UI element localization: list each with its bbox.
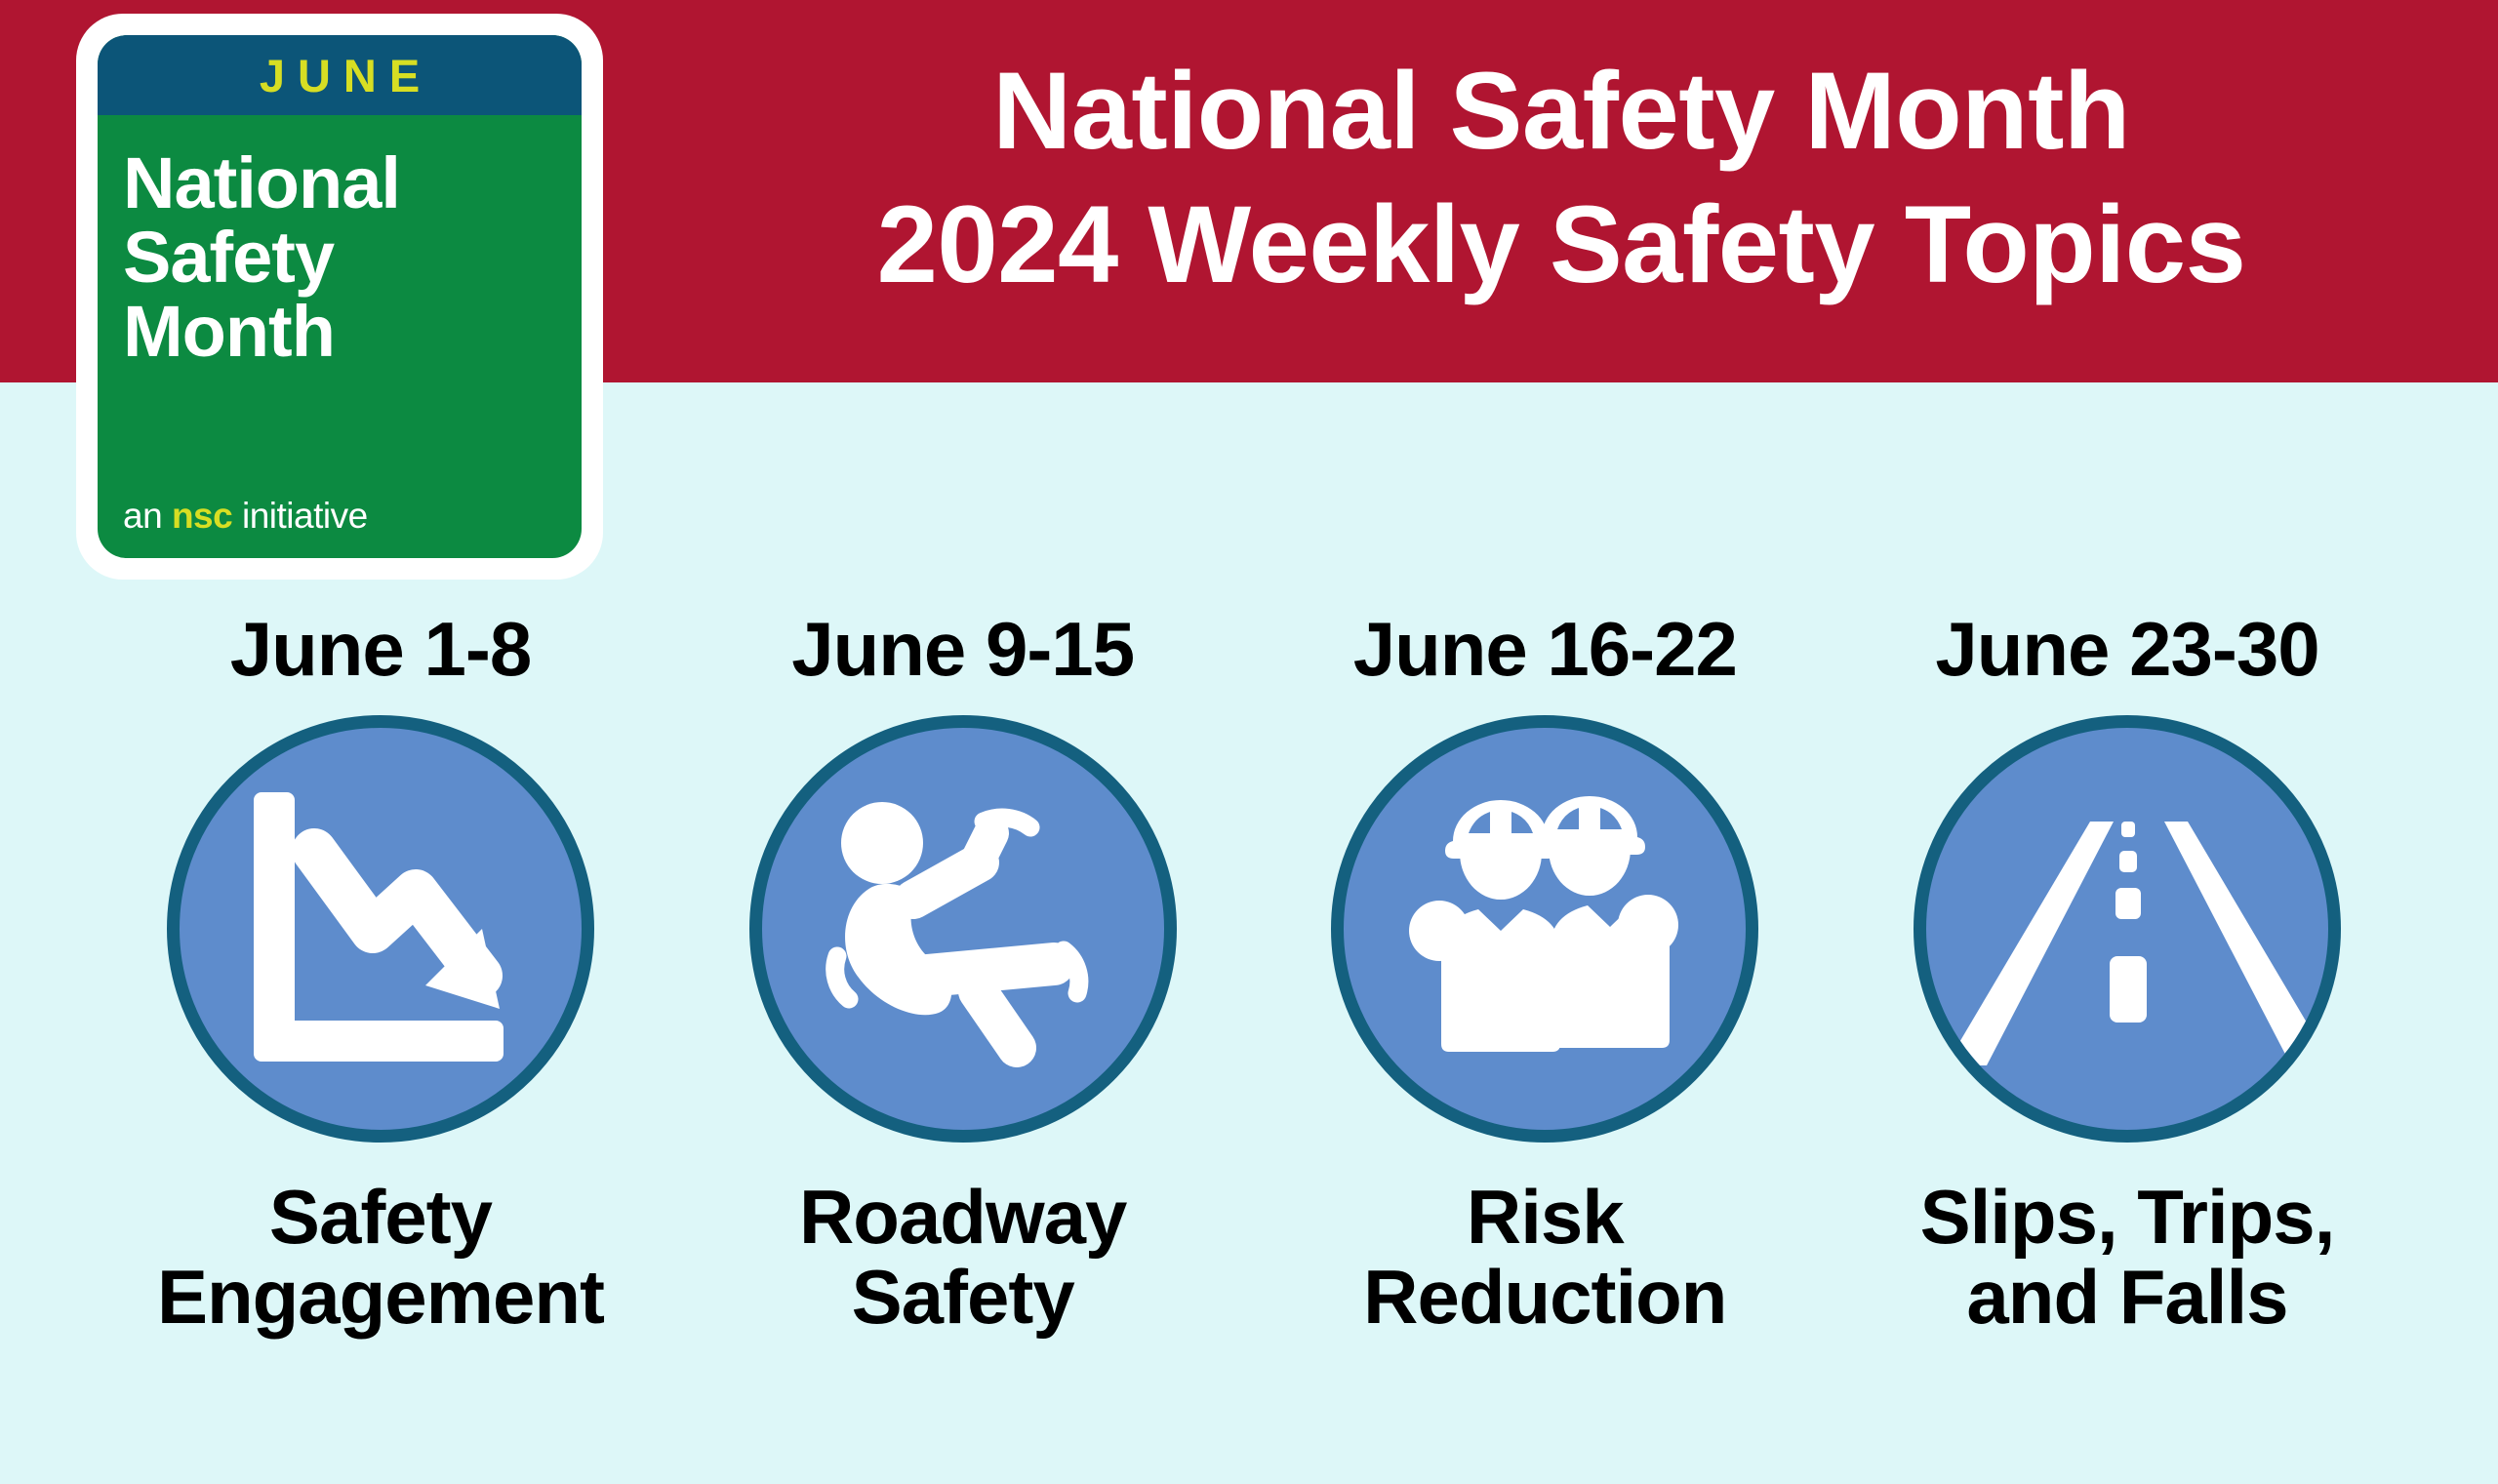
logo-inner-card: JUNE National Safety Month an nsc initia… [98,35,582,558]
page-title-line-1: National Safety Month [683,45,2439,179]
week-1-label-line-1: Safety [157,1178,604,1258]
week-card-2: June 9-15 Roadway Safety [690,605,1236,1338]
week-3-date: June 16-22 [1353,605,1737,694]
logo-word-month: Month [123,295,556,369]
page-title: National Safety Month 2024 Weekly Safety… [683,45,2439,311]
week-1-icon-circle [167,715,594,1143]
week-4-date: June 23-30 [1935,605,2318,694]
week-3-label-line-2: Reduction [1363,1258,1726,1338]
week-4-label-line-1: Slips, Trips, [1920,1178,2335,1258]
road-perspective-icon [1926,728,2328,1130]
logo-tagline-suffix: initiative [232,496,367,536]
week-3-label: Risk Reduction [1363,1178,1726,1338]
logo-month-label: JUNE [247,49,432,102]
week-2-label-line-2: Safety [799,1258,1126,1338]
logo-tagline: an nsc initiative [123,496,556,537]
week-4-icon-circle [1914,715,2341,1143]
week-card-4: June 23-30 Slips, T [1854,605,2400,1338]
declining-chart-icon [234,782,527,1075]
two-hardhat-workers-icon [1398,782,1691,1075]
week-2-label: Roadway Safety [799,1178,1126,1338]
logo-tagline-prefix: an [123,496,172,536]
logo-month-bar: JUNE [98,35,582,115]
week-2-label-line-1: Roadway [799,1178,1126,1258]
week-4-label-line-2: and Falls [1920,1258,2335,1338]
logo-word-national: National [123,146,556,221]
logo-wordmark: National Safety Month [123,146,556,370]
week-4-label: Slips, Trips, and Falls [1920,1178,2335,1338]
week-1-label: Safety Engagement [157,1178,604,1338]
week-3-icon-circle [1331,715,1758,1143]
logo-word-safety: Safety [123,221,556,295]
week-2-icon-circle [749,715,1177,1143]
week-1-label-line-2: Engagement [157,1258,604,1338]
week-1-date: June 1-8 [230,605,531,694]
week-2-date: June 9-15 [791,605,1134,694]
falling-person-icon [812,782,1114,1075]
week-card-1: June 1-8 Safety Engagement [107,605,654,1338]
week-card-3: June 16-22 Risk Reduction [1271,605,1818,1338]
logo-tagline-nsc: nsc [172,496,232,536]
national-safety-month-logo: JUNE National Safety Month an nsc initia… [76,14,603,580]
page-title-line-2: 2024 Weekly Safety Topics [683,179,2439,312]
week-3-label-line-1: Risk [1363,1178,1726,1258]
logo-body: National Safety Month an nsc initiative [98,115,582,558]
weekly-topics-row: June 1-8 Safety Engagement June 9-15 [107,605,2400,1338]
